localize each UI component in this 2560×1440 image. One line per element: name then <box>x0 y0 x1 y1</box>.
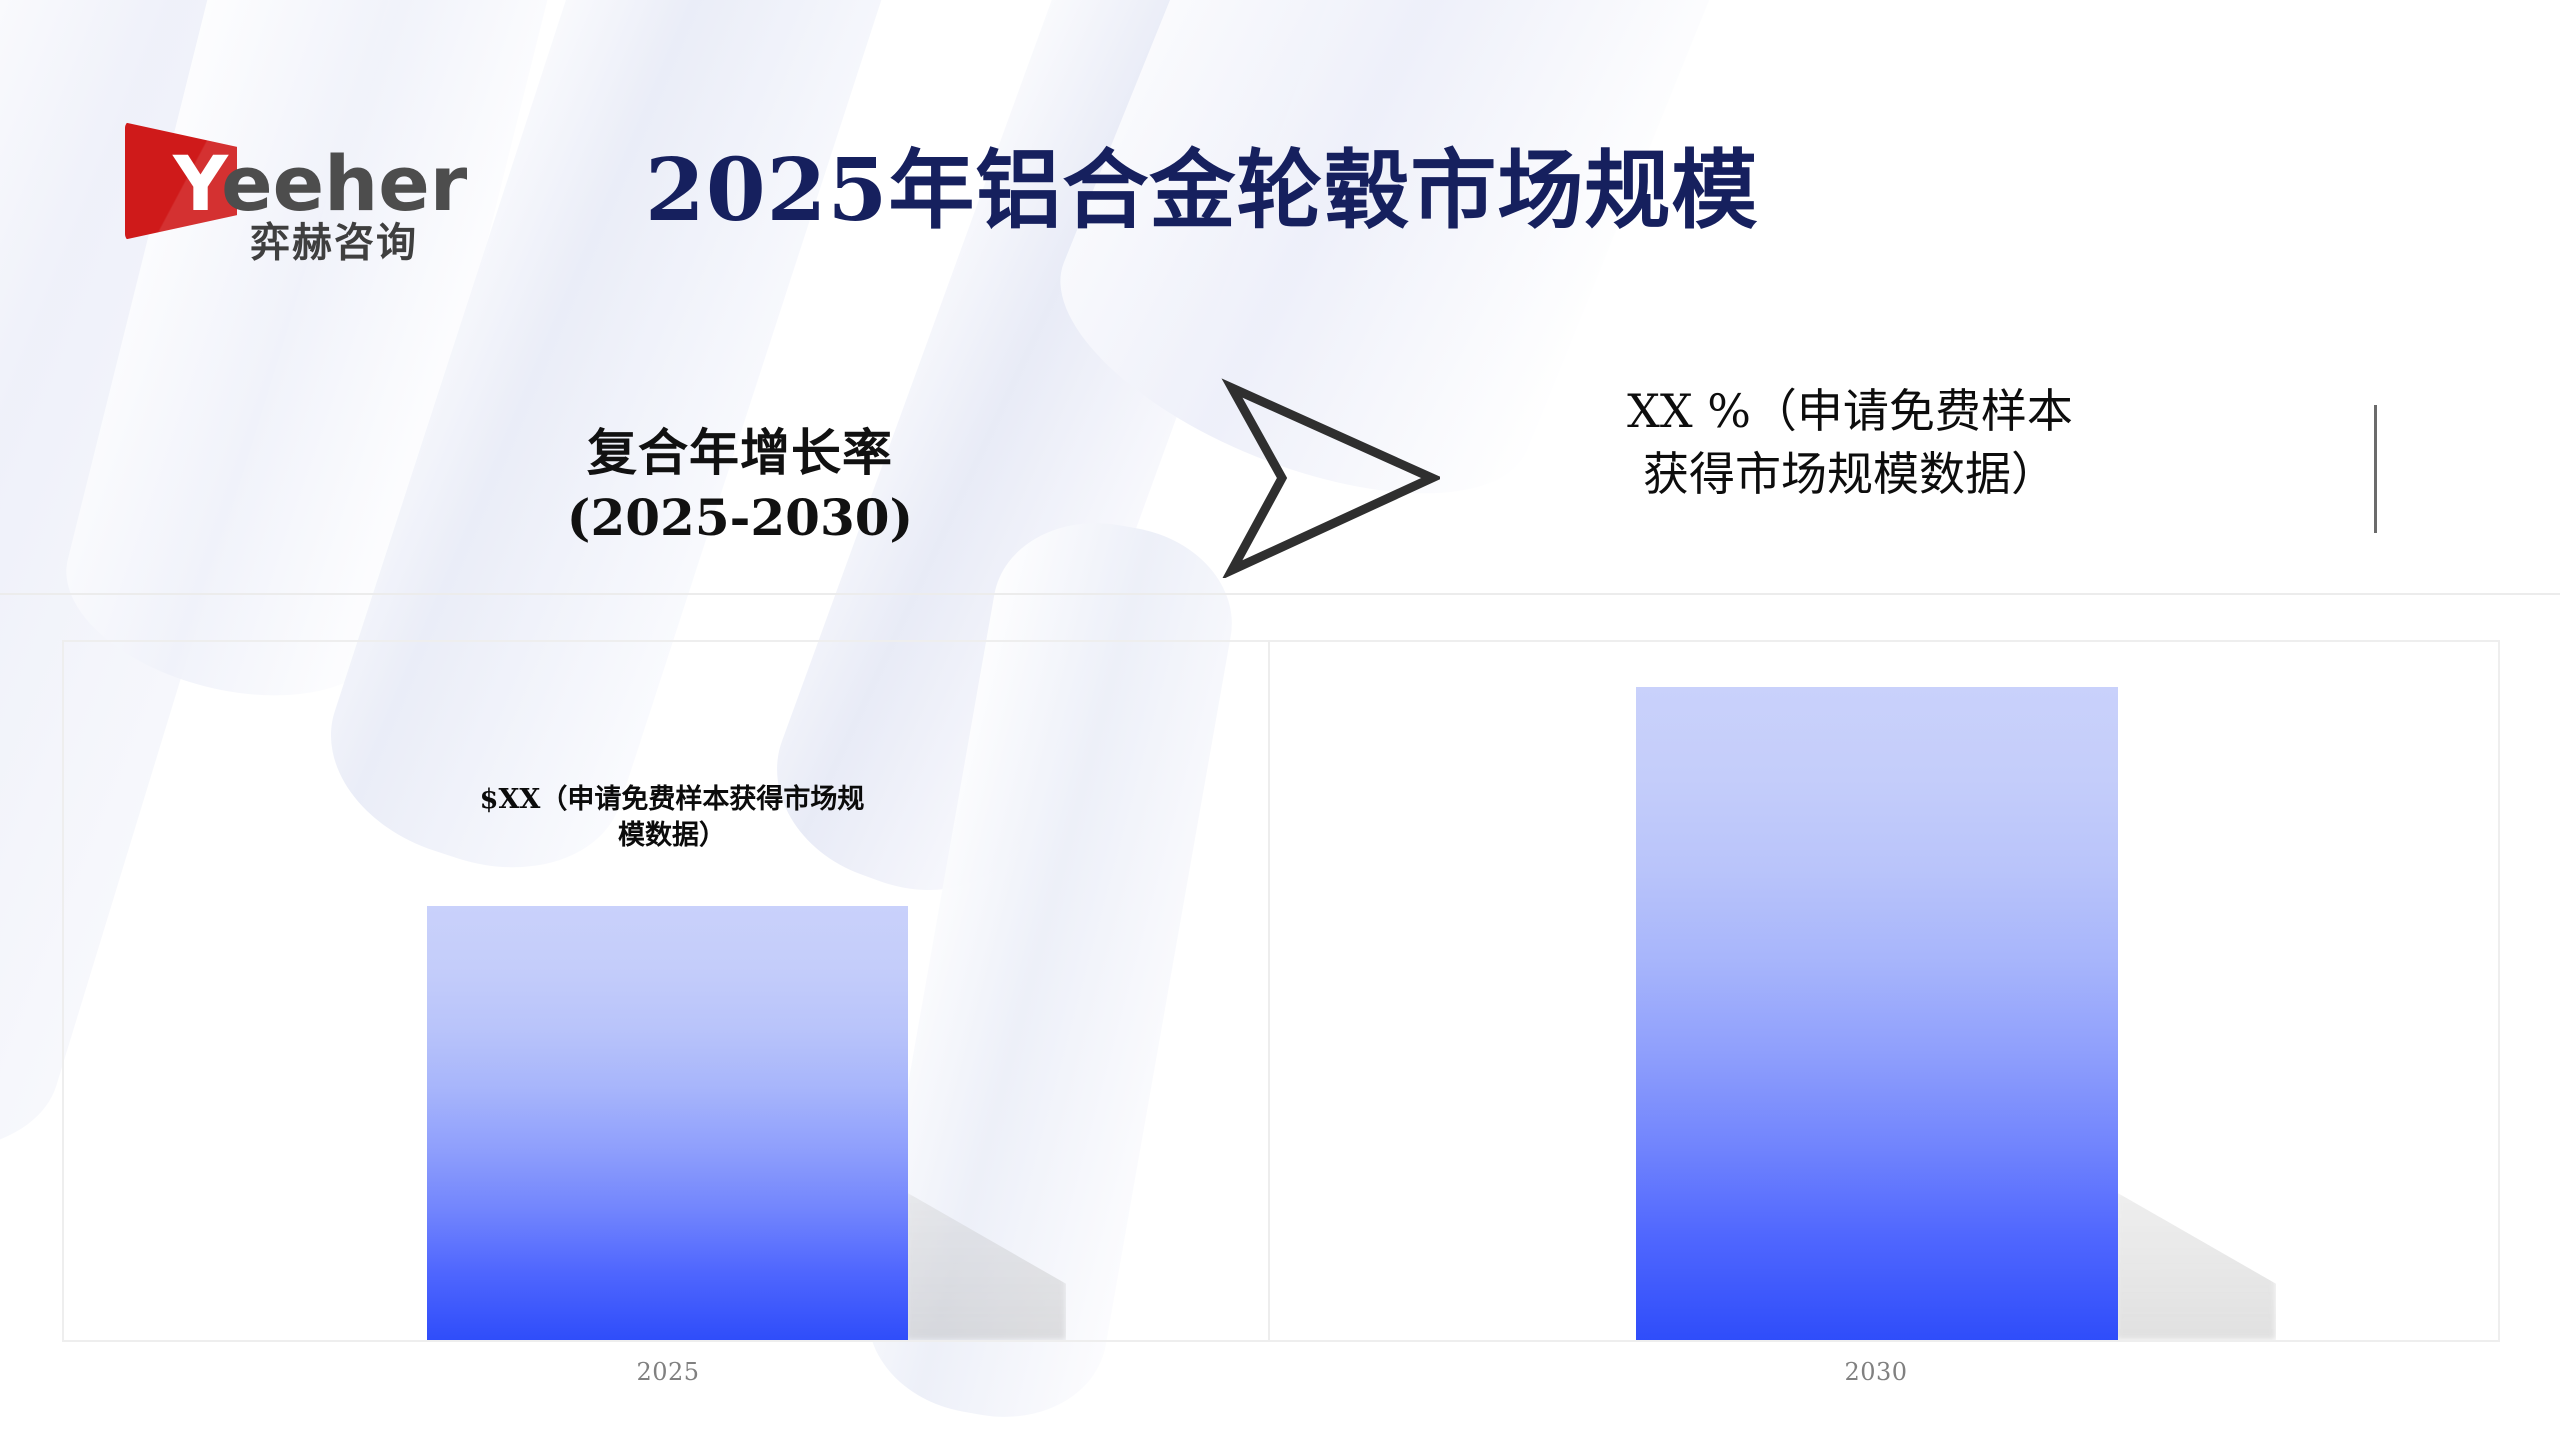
bar-2025-value-label: $XX（申请免费样本获得市场规 模数据） <box>442 782 902 854</box>
chart-panel-divider <box>1268 640 1270 1340</box>
cagr-label-line1: 复合年增长率 <box>520 420 960 485</box>
cagr-value-line2: 获得市场规模数据） <box>1600 443 2100 506</box>
cagr-label-line2: (2025-2030) <box>520 485 960 550</box>
logo-wordmark-initial: Y <box>173 139 221 228</box>
category-label-2025: 2025 <box>518 1358 818 1386</box>
page-title: 2025年铝合金轮毂市场规模 <box>645 120 1758 245</box>
category-label-2030: 2030 <box>1726 1358 2026 1386</box>
bar-2025-value-label-line2: 模数据） <box>442 818 902 854</box>
background-swoosh-6 <box>46 0 584 727</box>
brand-logo: Yeeher 弈赫咨询 <box>125 118 465 248</box>
bar-2025-value-label-line1: $XX（申请免费样本获得市场规 <box>442 782 902 818</box>
logo-subtitle: 弈赫咨询 <box>250 210 418 268</box>
cagr-value-line1: XX %（申请免费样本 <box>1600 380 2100 443</box>
cagr-label-block: 复合年增长率 (2025-2030) <box>520 420 960 550</box>
arrow-right-icon <box>1220 378 1440 578</box>
section-divider <box>0 593 2560 595</box>
slide-canvas: Yeeher 弈赫咨询 2025年铝合金轮毂市场规模 复合年增长率 (2025-… <box>0 0 2560 1440</box>
bar-2030[interactable] <box>1636 687 2118 1340</box>
bar-2025[interactable] <box>427 906 908 1340</box>
vertical-divider <box>2374 405 2377 533</box>
cagr-value-block: XX %（申请免费样本 获得市场规模数据） <box>1600 380 2100 507</box>
